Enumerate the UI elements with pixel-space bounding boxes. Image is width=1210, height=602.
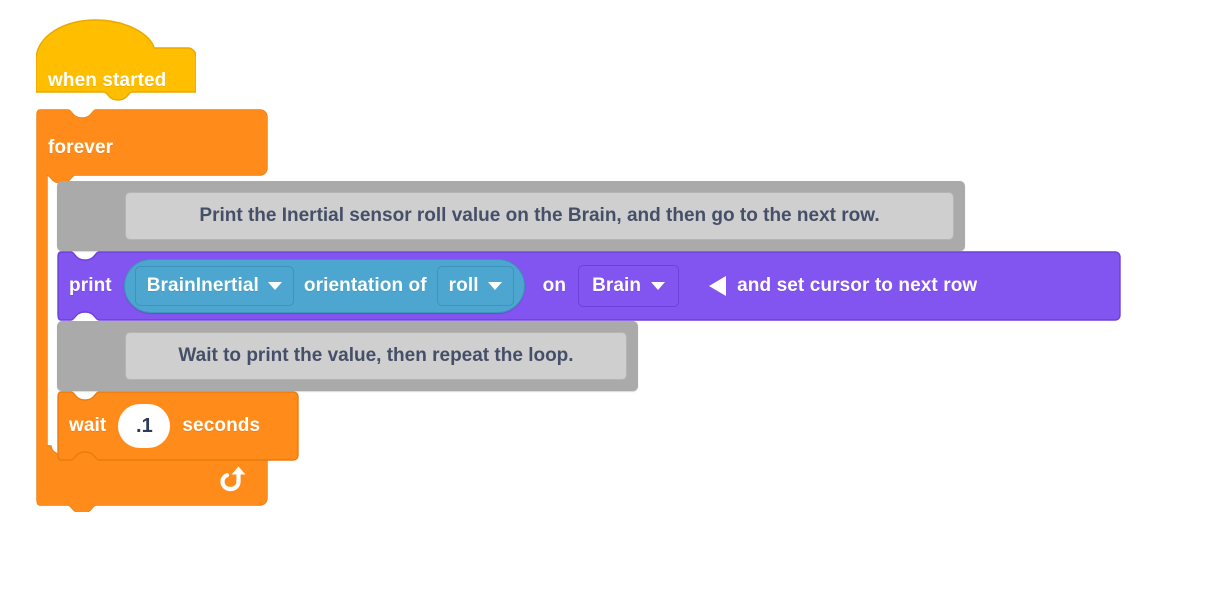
comment-notch-icon: [67, 181, 113, 190]
block-workspace[interactable]: when started forever Print the Inertial …: [0, 0, 1210, 602]
comment-text: Wait to print the value, then repeat the…: [178, 345, 573, 367]
dropdown-inertial-sensor-value: BrainInertial: [147, 275, 259, 297]
print-block-content: print BrainInertial orientation of roll …: [57, 259, 977, 313]
wait-block-content: wait .1 seconds: [69, 399, 260, 453]
dropdown-orientation-axis[interactable]: roll: [437, 266, 514, 306]
orientation-of-label: orientation of: [304, 275, 427, 297]
comment-block-wait-repeat[interactable]: Wait to print the value, then repeat the…: [57, 321, 638, 391]
wait-seconds-value: .1: [136, 415, 153, 438]
dropdown-print-device-value: Brain: [592, 275, 641, 297]
comment-block-print-inertial[interactable]: Print the Inertial sensor roll value on …: [57, 181, 965, 251]
block-wait-seconds[interactable]: wait .1 seconds: [57, 391, 299, 461]
newline-left-arrow-icon: [709, 276, 726, 296]
wait-keyword-label: wait: [69, 415, 106, 437]
chevron-down-icon: [651, 282, 665, 290]
block-when-started[interactable]: when started: [36, 18, 196, 108]
block-print-on-brain[interactable]: print BrainInertial orientation of roll …: [57, 251, 1121, 321]
when-started-shape: [36, 18, 196, 108]
comment-text-box: Print the Inertial sensor roll value on …: [125, 192, 954, 240]
loop-arrow-icon: [214, 461, 248, 495]
on-preposition-label: on: [543, 275, 566, 297]
dropdown-inertial-sensor[interactable]: BrainInertial: [135, 266, 294, 306]
reporter-brain-inertial-orientation[interactable]: BrainInertial orientation of roll: [124, 259, 525, 313]
comment-text: Print the Inertial sensor roll value on …: [199, 205, 879, 227]
comment-text-box: Wait to print the value, then repeat the…: [125, 332, 627, 380]
forever-label: forever: [48, 137, 113, 159]
set-cursor-next-row-label: and set cursor to next row: [737, 275, 977, 297]
dropdown-orientation-axis-value: roll: [449, 275, 479, 297]
when-started-label: when started: [48, 70, 166, 92]
print-keyword-label: print: [69, 275, 112, 297]
chevron-down-icon: [268, 282, 282, 290]
wait-unit-label: seconds: [182, 415, 260, 437]
dropdown-print-device[interactable]: Brain: [578, 265, 679, 307]
wait-seconds-input[interactable]: .1: [118, 404, 170, 448]
chevron-down-icon: [488, 282, 502, 290]
